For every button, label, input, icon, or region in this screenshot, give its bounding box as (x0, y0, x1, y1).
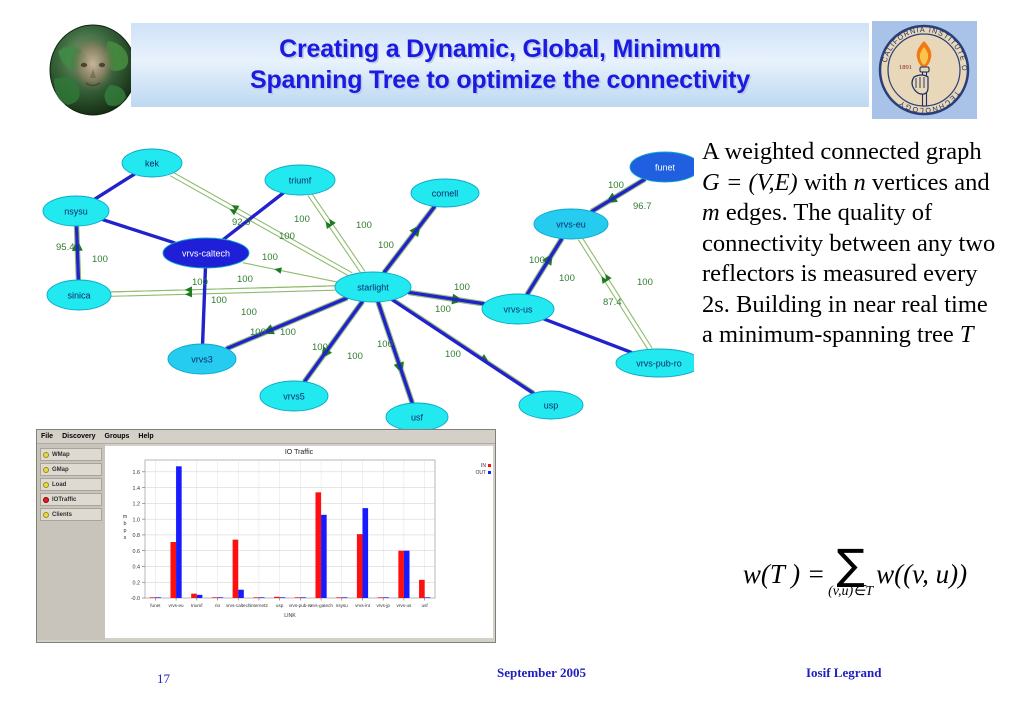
network-node-nsysu[interactable]: nsysu (43, 196, 109, 226)
edge-weight-label: 100 (294, 214, 310, 225)
bullet-icon (43, 482, 49, 488)
network-node-vrvs-eu[interactable]: vrvs-eu (534, 209, 608, 239)
page-title-line1: Creating a Dynamic, Global, Minimum (131, 34, 869, 65)
sidebar-item-label: IOTraffic (52, 497, 76, 503)
chart-bar (321, 515, 327, 598)
chart-bar (300, 597, 306, 598)
y-axis-title: b (124, 521, 127, 527)
chart-bar (233, 540, 239, 598)
y-axis-tick-label: 1.2 (133, 502, 141, 508)
chart-bar (155, 597, 161, 598)
network-node-label: usf (411, 412, 424, 422)
edge-weight-label: 100 (262, 252, 278, 263)
chart-bar (357, 534, 363, 598)
footer-date: September 2005 (497, 665, 586, 681)
menu-item-help[interactable]: Help (138, 433, 153, 440)
y-axis-tick-label: 1.0 (133, 517, 141, 523)
chart-bar (238, 590, 244, 598)
edge-weight-label: 100 (280, 327, 296, 338)
bullet-icon (43, 497, 49, 503)
chart-bar (274, 597, 280, 598)
network-node-triumf[interactable]: triumf (265, 165, 335, 195)
network-node-label: vrvs-eu (556, 219, 586, 229)
summation-symbol: ∑ (v,u)∈T (828, 548, 873, 600)
menu-item-groups[interactable]: Groups (105, 433, 130, 440)
slide-number: 17 (157, 671, 170, 687)
sigma-glyph: ∑ (836, 548, 864, 582)
sidebar-item-label: Clients (52, 512, 72, 518)
summation-subscript: (v,u)∈T (828, 583, 873, 600)
x-axis-tick-label: vrvs-caltech (226, 603, 251, 608)
chart-bar (419, 580, 425, 598)
y-axis-tick-label: 0.2 (133, 580, 141, 586)
edge-weight-label: 100 (312, 342, 328, 353)
network-node-label: usp (544, 400, 559, 410)
network-node-funet[interactable]: funet (630, 152, 694, 182)
chart-bar (425, 597, 431, 598)
x-axis-tick-label: vrvs-jp (376, 603, 390, 608)
edge-weight-label: 95.4 (56, 242, 75, 253)
chart-bar (363, 508, 369, 598)
edge-weight-label: 100 (237, 274, 253, 285)
network-node-sinica[interactable]: sinica (47, 280, 111, 310)
edge-weight-label: 100 (637, 277, 653, 288)
network-node-starlight[interactable]: starlight (335, 272, 411, 302)
edge-weight-label: 100 (377, 339, 393, 350)
io-traffic-chart[interactable]: IO Traffic -0.00.20.40.60.81.01.21.41.6m… (105, 446, 493, 638)
x-axis-tick-label: funet (150, 603, 161, 608)
legend-entry-out: OUT (475, 469, 491, 476)
chart-bar (378, 597, 384, 598)
sidebar-item-gmap[interactable]: GMap (40, 463, 102, 476)
edge-weight-label: 100 (279, 231, 295, 242)
chart-bar (170, 542, 176, 598)
edge-weight-label: 100 (250, 327, 266, 338)
chart-bar (197, 595, 203, 598)
chart-bar (150, 597, 156, 598)
chart-bar (383, 597, 389, 598)
network-node-label: sinica (67, 290, 90, 300)
x-axis-title: LINK (284, 613, 296, 619)
chart-bar (212, 597, 218, 598)
sidebar-item-wmap[interactable]: WMap (40, 448, 102, 461)
chart-legend: INOUT (475, 462, 491, 476)
network-node-label: vrvs-us (504, 304, 533, 314)
network-node-vrvs-caltech[interactable]: vrvs-caltech (163, 238, 249, 268)
network-node-label: funet (655, 162, 676, 172)
y-axis-tick-label: 0.8 (133, 533, 141, 539)
chart-bar (398, 551, 404, 598)
sidebar-item-clients[interactable]: Clients (40, 508, 102, 521)
app-sidebar[interactable]: WMapGMapLoadIOTrafficClients (37, 444, 105, 640)
x-axis-tick-label: vrvs-eu (169, 603, 185, 608)
slide-title-band: Creating a Dynamic, Global, Minimum Span… (131, 23, 869, 107)
edge-weight-label: 100 (529, 255, 545, 266)
chart-bar (280, 597, 286, 598)
sidebar-item-label: Load (52, 482, 66, 488)
network-node-vrvs5[interactable]: vrvs5 (260, 381, 328, 411)
edge-weight-label: 100 (92, 254, 108, 265)
edge-weight-label: 100 (211, 295, 227, 306)
app-menubar[interactable]: FileDiscoveryGroupsHelp (37, 430, 495, 444)
chart-bar (176, 466, 182, 598)
edge-weight-label: 100 (435, 304, 451, 315)
x-axis-tick-label: nsysu (336, 603, 348, 608)
edge-weight-label: 100 (241, 307, 257, 318)
body-paragraph: A weighted connected graph G = (V,E) wit… (702, 137, 1002, 351)
page-title: Creating a Dynamic, Global, Minimum Span… (131, 34, 869, 96)
chart-bar (404, 551, 410, 598)
chart-bar (191, 594, 197, 598)
edge-weight-label: 100 (608, 180, 624, 191)
y-axis-title: p (124, 528, 127, 534)
bullet-icon (43, 512, 49, 518)
network-node-label: starlight (357, 282, 389, 292)
network-node-cornell[interactable]: cornell (411, 179, 479, 207)
network-node-label: vrvs3 (191, 354, 213, 364)
mst-weight-formula: w(T ) = ∑ (v,u)∈T w((v, u)) (700, 548, 1010, 600)
sidebar-item-iotraffic[interactable]: IOTraffic (40, 493, 102, 506)
legend-label: IN (481, 463, 486, 469)
network-node-label: vrvs-pub-ro (636, 358, 682, 368)
chart-bar (259, 597, 265, 598)
x-axis-tick-label: internet2 (250, 603, 268, 608)
chart-bar (342, 597, 348, 598)
y-axis-tick-label: 0.6 (133, 549, 141, 555)
edge-weight-label: 87.4 (603, 297, 622, 308)
caltech-seal-logo: CALIFORNIA INSTITUTE OF TECHNOLOGY 1891 (872, 21, 977, 119)
x-axis-tick-label: usp (276, 603, 284, 608)
chart-bar (295, 597, 301, 598)
network-node-label: kek (145, 158, 160, 168)
legend-entry-in: IN (475, 462, 491, 469)
network-node-label: triumf (289, 175, 312, 185)
bullet-icon (43, 452, 49, 458)
chart-bar (315, 492, 321, 598)
network-node-usf[interactable]: usf (386, 403, 448, 431)
footer-author: Iosif Legrand (806, 665, 881, 681)
edge-weight-label: 100 (559, 273, 575, 284)
edge-weight-label: 100 (378, 240, 394, 251)
menu-item-discovery[interactable]: Discovery (62, 433, 95, 440)
network-node-kek[interactable]: kek (122, 149, 182, 177)
y-axis-tick-label: -0.0 (131, 596, 140, 602)
edge-weight-label: 96.7 (633, 201, 652, 212)
chart-bar (253, 597, 259, 598)
menu-item-file[interactable]: File (41, 433, 53, 440)
legend-swatch (488, 464, 491, 467)
monalisa-monitor-window[interactable]: FileDiscoveryGroupsHelp WMapGMapLoadIOTr… (36, 429, 496, 643)
page-title-line2: Spanning Tree to optimize the connectivi… (131, 65, 869, 96)
sidebar-item-load[interactable]: Load (40, 478, 102, 491)
network-node-vrvs3[interactable]: vrvs3 (168, 344, 236, 374)
x-axis-tick-label: usf (422, 603, 429, 608)
network-node-label: vrvs-caltech (182, 248, 230, 258)
sidebar-item-label: WMap (52, 452, 70, 458)
globe-earth-logo (46, 21, 140, 119)
formula-lhs: w(T ) = (743, 559, 825, 590)
chart-bar (336, 597, 342, 598)
legend-label: OUT (475, 470, 486, 476)
sidebar-item-label: GMap (52, 467, 69, 473)
edge-weight-label: 100 (192, 277, 208, 288)
network-node-vrvs-pub-ro[interactable]: vrvs-pub-ro (616, 349, 694, 377)
x-axis-tick-label: vrvs-int (355, 603, 371, 608)
chart-bar (218, 597, 224, 598)
edge-weight-label: 100 (445, 349, 461, 360)
edge-weight-label: 92.9 (232, 217, 251, 228)
y-axis-title: s (124, 535, 127, 541)
x-axis-tick-label: vrvs-us (397, 603, 413, 608)
y-axis-tick-label: 1.6 (133, 470, 141, 476)
network-node-label: cornell (432, 188, 459, 198)
network-node-usp[interactable]: usp (519, 391, 583, 419)
y-axis-tick-label: 0.4 (133, 565, 141, 571)
network-node-label: nsysu (64, 206, 88, 216)
legend-swatch (488, 471, 491, 474)
formula-rhs: w((v, u)) (876, 559, 967, 590)
edge-weight-label: 100 (356, 220, 372, 231)
bullet-icon (43, 467, 49, 473)
network-node-label: vrvs5 (283, 391, 305, 401)
y-axis-tick-label: 1.4 (133, 486, 141, 492)
x-axis-tick-label: vrvs-gatech (309, 603, 333, 608)
caltech-seal-year: 1891 (899, 64, 912, 71)
network-topology-diagram[interactable]: 93.392.995.41001001001001001001001001001… (26, 135, 694, 435)
y-axis-title: m (123, 514, 128, 520)
network-node-vrvs-us[interactable]: vrvs-us (482, 294, 554, 324)
edge-weight-label: 100 (347, 351, 363, 362)
x-axis-tick-label: rio (215, 603, 221, 608)
edge-weight-label: 100 (454, 282, 470, 293)
x-axis-tick-label: triumf (191, 603, 203, 608)
